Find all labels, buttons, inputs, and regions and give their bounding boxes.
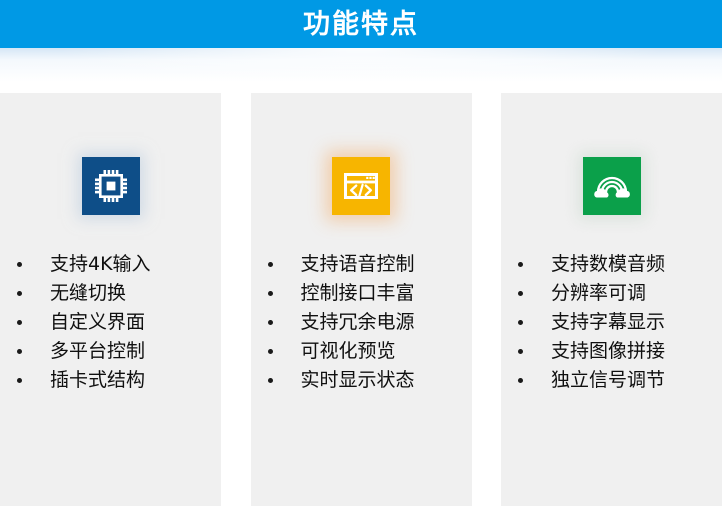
- feature-list-3: 支持数模音频 分辨率可调 支持字幕显示 支持图像拼接 独立信号调节: [501, 250, 722, 395]
- cpu-chip-icon: [82, 157, 140, 215]
- feature-label: 支持图像拼接: [551, 342, 665, 361]
- feature-label: 支持冗余电源: [301, 313, 415, 332]
- list-item: 多平台控制: [0, 337, 221, 366]
- list-item: 无缝切换: [0, 279, 221, 308]
- feature-label: 支持数模音频: [551, 255, 665, 274]
- feature-label: 控制接口丰富: [301, 284, 415, 303]
- bullet-icon: [17, 262, 22, 267]
- list-item: 自定义界面: [0, 308, 221, 337]
- bullet-icon: [518, 320, 523, 325]
- feature-card-2-icon-wrap: [251, 157, 472, 215]
- feature-list-2: 支持语音控制 控制接口丰富 支持冗余电源 可视化预览 实时显示状态: [251, 250, 472, 395]
- bullet-icon: [268, 262, 273, 267]
- feature-card-3: 支持数模音频 分辨率可调 支持字幕显示 支持图像拼接 独立信号调节: [501, 93, 722, 506]
- feature-label: 实时显示状态: [301, 371, 415, 390]
- feature-label: 支持语音控制: [301, 255, 415, 274]
- bullet-icon: [518, 349, 523, 354]
- list-item: 支持4K输入: [0, 250, 221, 279]
- bullet-icon: [268, 291, 273, 296]
- feature-label: 支持字幕显示: [551, 313, 665, 332]
- bullet-icon: [268, 349, 273, 354]
- feature-label: 可视化预览: [301, 342, 396, 361]
- list-item: 插卡式结构: [0, 366, 221, 395]
- feature-label: 插卡式结构: [50, 371, 145, 390]
- feature-label: 无缝切换: [50, 284, 126, 303]
- list-item: 支持语音控制: [251, 250, 472, 279]
- header-shadow-gradient: [0, 48, 722, 82]
- bullet-icon: [518, 262, 523, 267]
- list-item: 控制接口丰富: [251, 279, 472, 308]
- list-item: 可视化预览: [251, 337, 472, 366]
- feature-card-1: 支持4K输入 无缝切换 自定义界面 多平台控制 插卡式结构: [0, 93, 221, 506]
- page-title: 功能特点: [303, 11, 419, 38]
- feature-label: 分辨率可调: [551, 284, 646, 303]
- list-item: 独立信号调节: [501, 366, 722, 395]
- feature-card-1-icon-wrap: [0, 157, 221, 215]
- bullet-icon: [17, 349, 22, 354]
- feature-cards-row: 支持4K输入 无缝切换 自定义界面 多平台控制 插卡式结构: [0, 93, 722, 506]
- list-item: 实时显示状态: [251, 366, 472, 395]
- bullet-icon: [17, 291, 22, 296]
- feature-label: 支持4K输入: [50, 255, 151, 274]
- list-item: 支持图像拼接: [501, 337, 722, 366]
- feature-label: 自定义界面: [50, 313, 145, 332]
- bullet-icon: [518, 291, 523, 296]
- rainbow-cloud-icon: [583, 157, 641, 215]
- feature-card-3-icon-wrap: [501, 157, 722, 215]
- page-header: 功能特点: [0, 0, 722, 48]
- list-item: 分辨率可调: [501, 279, 722, 308]
- bullet-icon: [518, 378, 523, 383]
- bullet-icon: [17, 320, 22, 325]
- bullet-icon: [268, 378, 273, 383]
- bullet-icon: [17, 378, 22, 383]
- code-window-icon: [332, 157, 390, 215]
- bullet-icon: [268, 320, 273, 325]
- list-item: 支持数模音频: [501, 250, 722, 279]
- feature-label: 多平台控制: [50, 342, 145, 361]
- feature-card-2: 支持语音控制 控制接口丰富 支持冗余电源 可视化预览 实时显示状态: [251, 93, 472, 506]
- feature-label: 独立信号调节: [551, 371, 665, 390]
- list-item: 支持冗余电源: [251, 308, 472, 337]
- feature-list-1: 支持4K输入 无缝切换 自定义界面 多平台控制 插卡式结构: [0, 250, 221, 395]
- list-item: 支持字幕显示: [501, 308, 722, 337]
